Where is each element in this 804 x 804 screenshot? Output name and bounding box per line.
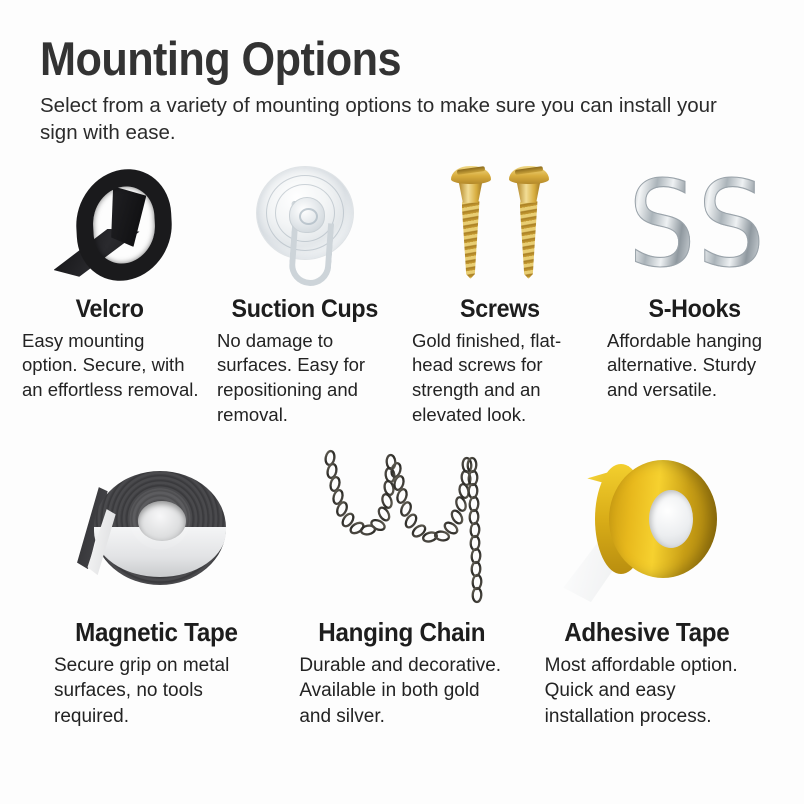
option-desc-velcro: Easy mounting option. Secure, with an ef… <box>20 329 199 403</box>
option-title-adhesive-tape: Adhesive Tape <box>565 617 730 648</box>
hanging-chain-icon <box>289 449 514 607</box>
screws-icon <box>410 163 589 289</box>
velcro-strip-icon <box>20 163 199 289</box>
option-card-adhesive-tape[interactable]: Adhesive Tape Most affordable option. Qu… <box>525 449 770 729</box>
option-card-hanging-chain[interactable]: Hanging Chain Durable and decorative. Av… <box>279 449 524 729</box>
page-title: Mounting Options <box>40 34 706 84</box>
option-card-s-hooks[interactable]: SS S-Hooks Affordable hanging alternativ… <box>597 163 792 427</box>
option-title-velcro: Velcro <box>75 295 143 324</box>
option-title-magnetic-tape: Magnetic Tape <box>75 617 238 648</box>
option-desc-hanging-chain: Durable and decorative. Available in bot… <box>289 653 514 729</box>
option-title-screws: Screws <box>460 295 540 324</box>
adhesive-tape-icon <box>535 449 760 607</box>
mounting-options-page: Mounting Options Select from a variety o… <box>0 0 804 804</box>
magnetic-tape-icon <box>44 449 269 607</box>
option-card-screws[interactable]: Screws Gold finished, flat-head screws f… <box>402 163 597 427</box>
option-card-suction-cups[interactable]: Suction Cups No damage to surfaces. Easy… <box>207 163 402 427</box>
s-hooks-icon: SS <box>605 163 784 289</box>
option-desc-s-hooks: Affordable hanging alternative. Sturdy a… <box>605 329 784 403</box>
option-desc-suction-cups: No damage to surfaces. Easy for repositi… <box>215 329 394 427</box>
mounting-options-row-2: Magnetic Tape Secure grip on metal surfa… <box>0 449 804 729</box>
option-card-velcro[interactable]: Velcro Easy mounting option. Secure, wit… <box>12 163 207 427</box>
option-title-s-hooks: S-Hooks <box>648 295 740 324</box>
page-subtitle: Select from a variety of mounting option… <box>40 92 730 147</box>
option-card-magnetic-tape[interactable]: Magnetic Tape Secure grip on metal surfa… <box>34 449 279 729</box>
option-desc-screws: Gold finished, flat-head screws for stre… <box>410 329 589 427</box>
option-title-suction-cups: Suction Cups <box>231 295 377 324</box>
page-header: Mounting Options Select from a variety o… <box>0 0 804 147</box>
mounting-options-row-1: Velcro Easy mounting option. Secure, wit… <box>0 163 804 427</box>
option-desc-magnetic-tape: Secure grip on metal surfaces, no tools … <box>44 653 269 729</box>
suction-cup-icon <box>215 163 394 289</box>
option-title-hanging-chain: Hanging Chain <box>319 617 486 648</box>
option-desc-adhesive-tape: Most affordable option. Quick and easy i… <box>535 653 760 729</box>
